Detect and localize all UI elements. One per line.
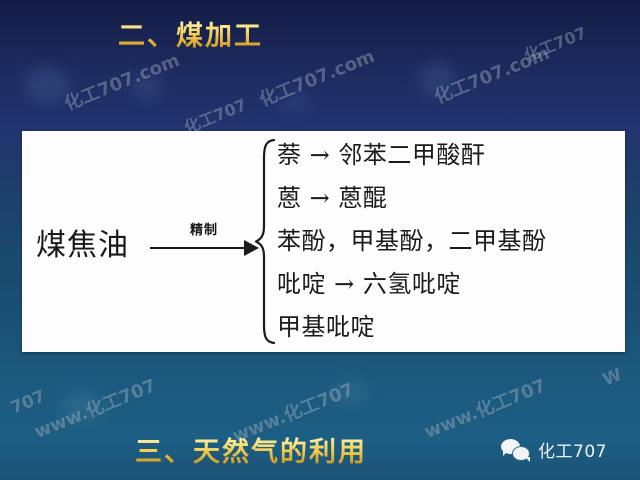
arrow-label: 精制 — [150, 219, 258, 238]
diagram-panel: 煤焦油 精制 萘 → 邻苯二甲酸酐 蒽 → 蒽醌 苯酚，甲基酚，二甲基酚 吡啶 … — [22, 131, 625, 352]
decorative-glow — [130, 72, 164, 100]
decorative-glow — [60, 392, 104, 422]
section-title-top: 二、煤加工 — [118, 14, 263, 53]
process-arrow: 精制 — [150, 220, 258, 264]
reaction-flow: 煤焦油 精制 萘 → 邻苯二甲酸酐 蒽 → 蒽醌 苯酚，甲基酚，二甲基酚 吡啶 … — [22, 131, 625, 352]
watermark-text: 化工707 — [520, 19, 590, 66]
decorative-glow — [330, 378, 370, 406]
watermark-text: 化工707.com — [430, 39, 553, 109]
watermark-text: 化工707.com — [60, 46, 183, 116]
product-item: 苯酚，甲基酚，二甲基酚 — [277, 229, 625, 254]
product-item: 吡啶 → 六氢吡啶 — [277, 272, 625, 297]
watermark-text: 化工707.com — [255, 42, 378, 112]
section-title-bottom: 三、天然气的利用 — [135, 430, 367, 469]
decorative-glow — [280, 90, 310, 114]
reactant-label: 煤焦油 — [36, 220, 129, 264]
wechat-icon — [501, 438, 531, 462]
product-item: 萘 → 邻苯二甲酸酐 — [277, 143, 625, 168]
product-item: 甲基吡啶 — [277, 315, 625, 340]
wechat-account-badge: 化工707 — [501, 437, 607, 462]
product-item: 蒽 → 蒽醌 — [277, 186, 625, 211]
watermark-text: 707 — [8, 387, 48, 419]
watermark-text: www.化工707 — [420, 372, 549, 444]
decorative-glow — [24, 66, 70, 102]
slide-canvas: 化工707.com化工707.com化工707.comwww.化工707www.… — [0, 0, 640, 480]
product-list: 萘 → 邻苯二甲酸酐 蒽 → 蒽醌 苯酚，甲基酚，二甲基酚 吡啶 → 六氢吡啶 … — [277, 139, 625, 344]
wechat-account-name: 化工707 — [538, 437, 607, 462]
decorative-glow — [418, 62, 456, 96]
arrow-line — [150, 247, 248, 249]
curly-brace-icon — [254, 138, 276, 345]
watermark-text: W — [600, 365, 625, 391]
